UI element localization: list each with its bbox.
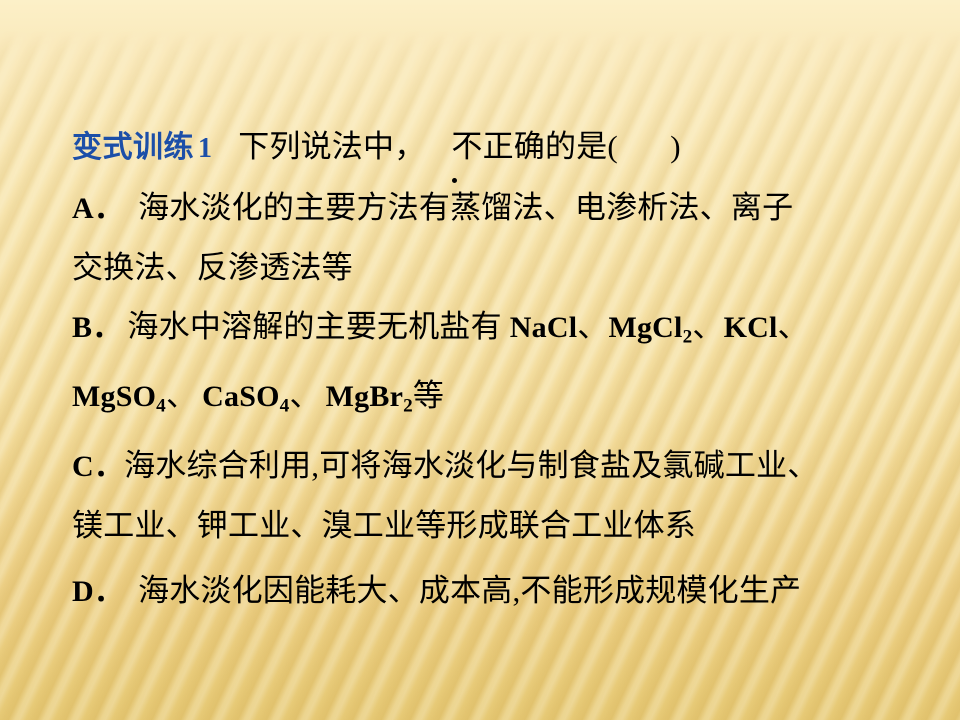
answer-blank: () (607, 129, 681, 164)
stem-emphasis-char: 不 (425, 118, 482, 176)
option-b-text-suffix: 等 (413, 378, 444, 413)
stem-text-before: 下列说法中， (212, 129, 425, 164)
formula-nacl: NaCl (510, 311, 577, 344)
slide-text-body: 变式训练1下列说法中，不正确的是() A．海水淡化的主要方法有蒸馏法、电渗析法、… (72, 118, 904, 621)
option-b-line-2: MgSO4、CaSO4、MgBr2等 (72, 366, 904, 435)
option-a-letter: A (72, 192, 94, 225)
formula-caso4: CaSO4 (202, 380, 289, 413)
option-a-text-2: 交换法、反渗透法等 (72, 250, 353, 285)
formula-mgso4-base: MgSO (72, 380, 156, 413)
option-a-dot: ． (94, 192, 124, 225)
formula-mgbr2: MgBr2 (326, 380, 413, 413)
formula-separator-5: 、 (289, 378, 320, 413)
option-b-text-prefix: 海水中溶解的主要无机盐有 (127, 309, 509, 344)
exercise-number: 1 (194, 133, 212, 164)
option-c-line-2: 镁工业、钾工业、溴工业等形成联合工业体系 (72, 496, 904, 555)
option-c-line-1: C．海水综合利用,可将海水淡化与制食盐及氯碱工业、 (72, 436, 904, 496)
formula-separator-3: 、 (778, 309, 809, 344)
formula-mgbr2-base: MgBr (326, 380, 403, 413)
formula-separator-4: 、 (166, 378, 197, 413)
formula-kcl-base: KCl (724, 311, 778, 344)
option-a-line-2: 交换法、反渗透法等 (72, 238, 904, 297)
formula-mgbr2-sub: 2 (403, 396, 413, 417)
formula-separator-2: 、 (692, 309, 723, 344)
formula-mgso4: MgSO4 (72, 380, 166, 413)
slide-canvas: 变式训练1下列说法中，不正确的是() A．海水淡化的主要方法有蒸馏法、电渗析法、… (0, 0, 960, 720)
formula-caso4-base: CaSO (202, 380, 280, 413)
option-b-dot: ． (92, 311, 122, 344)
question-stem-line: 变式训练1下列说法中，不正确的是() (72, 118, 904, 178)
formula-caso4-sub: 4 (280, 396, 290, 417)
option-c-dot: ． (94, 450, 124, 483)
option-a-line-1: A．海水淡化的主要方法有蒸馏法、电渗析法、离子 (72, 178, 904, 238)
formula-separator-1: 、 (577, 309, 608, 344)
formula-mgcl2-base: MgCl (608, 311, 682, 344)
formula-mgcl2: MgCl2 (608, 311, 692, 344)
answer-paren-close: ) (670, 129, 681, 164)
exercise-label: 变式训练 (72, 131, 194, 164)
stem-text-after: 正确的是 (483, 129, 608, 164)
option-d-dot: ． (94, 575, 124, 608)
formula-mgcl2-sub: 2 (683, 326, 693, 347)
option-c-text-1: 海水综合利用,可将海水淡化与制食盐及氯碱工业、 (124, 448, 818, 483)
option-c-letter: C (72, 450, 94, 483)
answer-paren-open: ( (607, 129, 618, 164)
option-d-text-1: 海水淡化因能耗大、成本高,不能形成规模化生产 (138, 573, 801, 608)
option-d-line-1: D．海水淡化因能耗大、成本高,不能形成规模化生产 (72, 561, 904, 621)
formula-nacl-base: NaCl (510, 311, 577, 344)
formula-mgso4-sub: 4 (156, 396, 166, 417)
option-c-text-2: 镁工业、钾工业、溴工业等形成联合工业体系 (72, 508, 696, 543)
option-d-letter: D (72, 575, 94, 608)
option-b-line-1: B．海水中溶解的主要无机盐有 NaCl、MgCl2、KCl、 (72, 297, 904, 366)
formula-kcl: KCl (724, 311, 778, 344)
option-b-letter: B (72, 311, 92, 344)
option-a-text-1: 海水淡化的主要方法有蒸馏法、电渗析法、离子 (138, 190, 793, 225)
